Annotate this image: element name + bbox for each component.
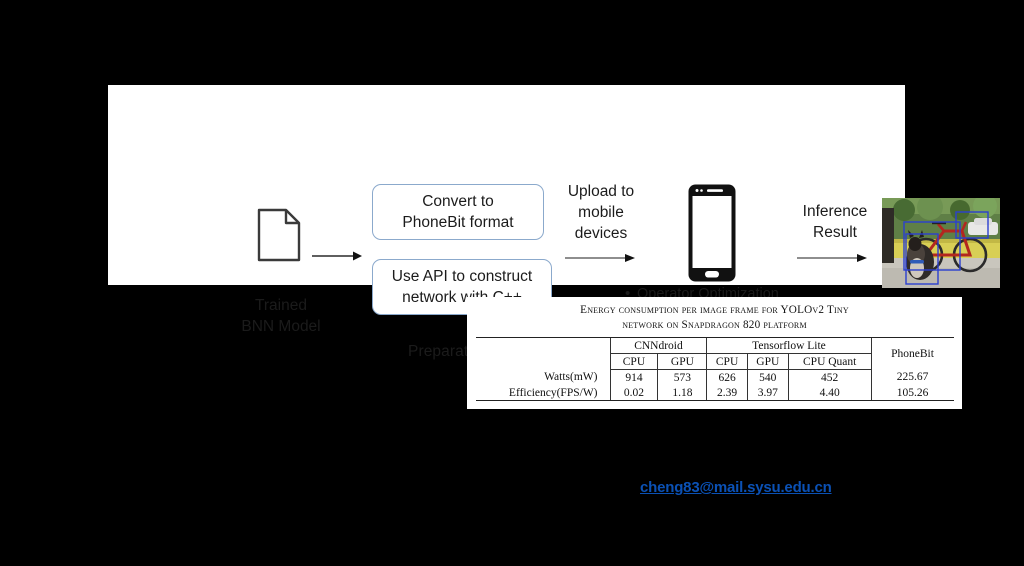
group-header-tensorflow-lite: Tensorflow Lite <box>707 338 871 354</box>
document-icon <box>256 207 302 263</box>
source-node-label-line2: BNN Model <box>226 316 336 337</box>
source-node-label: Trained BNN Model <box>226 295 336 337</box>
detection-result-photo <box>882 198 1000 288</box>
step-box-use-api-line1: Use API to construct <box>392 268 532 285</box>
cell-watts-tflite-gpu: 540 <box>747 370 788 386</box>
sub-header-cnndroid-gpu: GPU <box>658 354 707 370</box>
arrow-optimization-to-inference <box>797 252 867 264</box>
table-row: Efficiency(FPS/W) 0.02 1.18 2.39 3.97 4.… <box>476 385 954 401</box>
cell-watts-phonebit: 225.67 <box>871 370 954 386</box>
arrow-source-to-preparation <box>312 250 362 262</box>
table-row: Watts(mW) 914 573 626 540 452 225.67 <box>476 370 954 386</box>
sub-header-cnndroid-cpu: CPU <box>610 354 658 370</box>
cell-watts-cnndroid-cpu: 914 <box>610 370 658 386</box>
cell-efficiency-phonebit: 105.26 <box>871 385 954 401</box>
contact-email-link[interactable]: cheng83@mail.sysu.edu.cn <box>640 479 832 496</box>
upload-caption-line2: mobile <box>549 202 653 223</box>
cell-watts-tflite-cpu: 626 <box>707 370 747 386</box>
energy-table-panel: Energy consumption per image frame for Y… <box>467 297 962 409</box>
cell-efficiency-cnndroid-gpu: 1.18 <box>658 385 707 401</box>
step-box-convert-line2: PhoneBit format <box>402 214 513 231</box>
sub-header-tflite-cpu: CPU <box>707 354 747 370</box>
upload-caption: Upload to mobile devices <box>549 181 653 244</box>
cell-watts-cnndroid-gpu: 573 <box>658 370 707 386</box>
step-box-convert-line1: Convert to <box>422 193 494 210</box>
inference-caption-line1: Inference <box>792 201 878 222</box>
inference-caption-line2: Result <box>792 222 878 243</box>
sub-header-tflite-gpu: GPU <box>747 354 788 370</box>
sub-header-tflite-cpu-quant: CPU Quant <box>788 354 871 370</box>
row-label-efficiency: Efficiency(FPS/W) <box>476 385 611 401</box>
upload-caption-line1: Upload to <box>549 181 653 202</box>
cell-efficiency-tflite-cpu-quant: 4.40 <box>788 385 871 401</box>
source-node-label-line1: Trained <box>226 295 336 316</box>
upload-caption-line3: devices <box>549 223 653 244</box>
workflow-diagram-panel: Trained BNN Model Convert to PhoneBit fo… <box>108 85 905 285</box>
cell-watts-tflite-cpu-quant: 452 <box>788 370 871 386</box>
group-header-cnndroid: CNNdroid <box>610 338 707 354</box>
row-label-watts: Watts(mW) <box>476 370 611 386</box>
smartphone-icon <box>688 184 736 282</box>
group-header-blank <box>476 338 611 354</box>
cell-efficiency-cnndroid-cpu: 0.02 <box>610 385 658 401</box>
slide-canvas: Trained BNN Model Convert to PhoneBit fo… <box>0 0 1024 566</box>
inference-result-caption: Inference Result <box>792 201 878 243</box>
cell-efficiency-tflite-cpu: 2.39 <box>707 385 747 401</box>
table-caption-line2: network on Snapdragon 820 platform <box>622 319 807 331</box>
cell-efficiency-tflite-gpu: 3.97 <box>747 385 788 401</box>
step-box-convert-text: Convert to PhoneBit format <box>402 191 513 233</box>
step-box-convert[interactable]: Convert to PhoneBit format <box>372 184 544 240</box>
group-header-phonebit: PhoneBit <box>871 338 954 370</box>
energy-consumption-table: CNNdroid Tensorflow Lite PhoneBit CPU GP… <box>476 337 954 401</box>
table-caption: Energy consumption per image frame for Y… <box>467 297 962 335</box>
table-group-header-row: CNNdroid Tensorflow Lite PhoneBit <box>476 338 954 354</box>
arrow-preparation-to-optimization <box>565 252 635 264</box>
table-caption-line1: Energy consumption per image frame for Y… <box>580 304 849 316</box>
sub-header-blank <box>476 354 611 370</box>
